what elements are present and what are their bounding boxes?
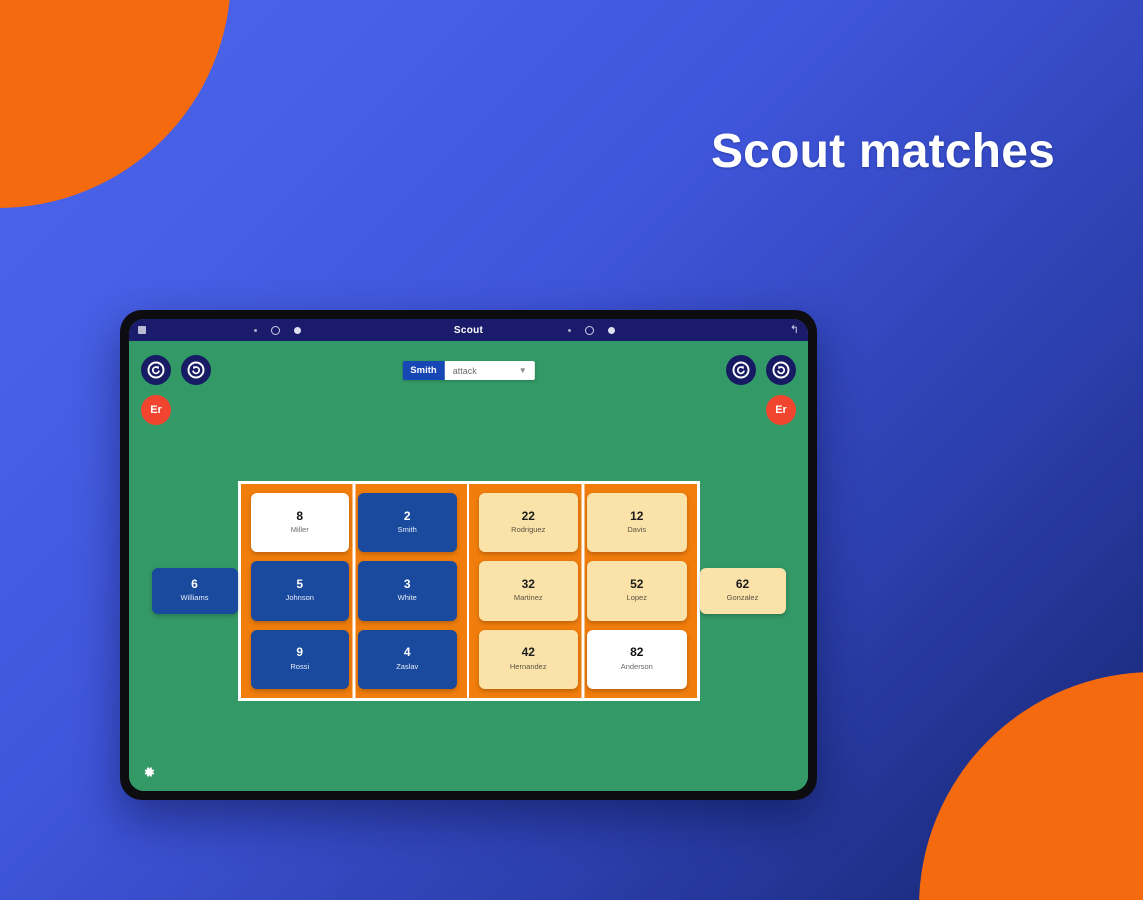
home-court-half: 8 Miller 2 Smith 5 Johnson 3 [241, 484, 469, 698]
player-card[interactable]: 8 Miller [251, 493, 350, 552]
undo-arrow-icon [732, 361, 750, 379]
player-name: Johnson [286, 593, 314, 604]
redo-arrow-icon [187, 361, 205, 379]
player-card[interactable]: 3 White [358, 561, 457, 620]
away-bench: 62 Gonzalez [700, 568, 786, 614]
chevron-down-icon: ▼ [519, 366, 527, 375]
home-undo-button[interactable] [141, 355, 171, 385]
window-titlebar: Scout ↰ [129, 319, 808, 341]
away-error-button[interactable]: Er [766, 395, 796, 425]
page-title: Scout matches [711, 124, 1055, 179]
player-name: Zaslav [396, 662, 418, 673]
player-name: Williams [181, 593, 209, 604]
player-number: 8 [296, 510, 303, 523]
player-number: 2 [404, 510, 411, 523]
player-number: 6 [191, 578, 198, 591]
back-arrow-icon[interactable]: ↰ [790, 325, 799, 336]
dot-icon-right [568, 329, 571, 332]
player-number: 62 [736, 578, 749, 591]
away-court-half: 22 Rodriguez 12 Davis 32 Martinez 52 [469, 484, 697, 698]
player-number: 52 [630, 578, 643, 591]
titlebar-left-icons [138, 326, 301, 335]
decorative-circle-bottom-right [919, 672, 1143, 900]
player-number: 4 [404, 646, 411, 659]
player-card[interactable]: 4 Zaslav [358, 630, 457, 689]
titlebar-right-icons: ↰ [568, 325, 799, 336]
player-name: Miller [291, 525, 309, 536]
player-card[interactable]: 9 Rossi [251, 630, 350, 689]
tablet-device-frame: Scout ↰ [120, 310, 817, 800]
scout-app-body: Er [129, 341, 808, 791]
player-number: 3 [404, 578, 411, 591]
home-error-button[interactable]: Er [141, 395, 171, 425]
player-card[interactable]: 2 Smith [358, 493, 457, 552]
player-name: Rossi [290, 662, 309, 673]
circle-icon [608, 327, 615, 334]
player-name: Anderson [621, 662, 653, 673]
player-number: 12 [630, 510, 643, 523]
action-dropdown[interactable]: attack ▼ [445, 361, 535, 380]
volleyball-court: 8 Miller 2 Smith 5 Johnson 3 [238, 481, 700, 701]
player-name: Hernandez [510, 662, 547, 673]
action-selector: Smith attack ▼ [402, 361, 534, 380]
player-card[interactable]: 22 Rodriguez [479, 493, 579, 552]
player-number: 22 [522, 510, 535, 523]
home-controls-cluster: Er [141, 355, 211, 425]
tablet-screen: Scout ↰ [129, 319, 808, 791]
player-card[interactable]: 52 Lopez [587, 561, 687, 620]
selected-player-badge[interactable]: Smith [402, 361, 444, 380]
diamond-icon [294, 327, 301, 334]
bench-player-card[interactable]: 6 Williams [152, 568, 238, 614]
player-name: Rodriguez [511, 525, 545, 536]
home-bench: 6 Williams [152, 568, 238, 614]
dot-icon [254, 329, 257, 332]
player-card[interactable]: 5 Johnson [251, 561, 350, 620]
player-number: 5 [296, 578, 303, 591]
player-name: White [398, 593, 417, 604]
redo-arrow-icon [772, 361, 790, 379]
player-name: Gonzalez [727, 593, 759, 604]
away-history-buttons [726, 355, 796, 385]
away-undo-button[interactable] [726, 355, 756, 385]
away-controls-cluster: Er [726, 355, 796, 425]
bench-player-card[interactable]: 62 Gonzalez [700, 568, 786, 614]
player-number: 82 [630, 646, 643, 659]
undo-arrow-icon [147, 361, 165, 379]
player-card[interactable]: 42 Hernandez [479, 630, 579, 689]
player-name: Davis [627, 525, 646, 536]
home-redo-button[interactable] [181, 355, 211, 385]
home-history-buttons [141, 355, 211, 385]
menu-square-icon[interactable] [138, 326, 146, 334]
player-card[interactable]: 82 Anderson [587, 630, 687, 689]
gear-icon-glyph [142, 765, 156, 779]
player-number: 9 [296, 646, 303, 659]
player-number: 42 [522, 646, 535, 659]
court-area: 6 Williams 8 Miller 2 Smith [129, 481, 808, 701]
decorative-circle-top-left [0, 0, 231, 208]
player-number: 32 [522, 578, 535, 591]
player-card[interactable]: 32 Martinez [479, 561, 579, 620]
ring-icon [271, 326, 280, 335]
away-redo-button[interactable] [766, 355, 796, 385]
player-card[interactable]: 12 Davis [587, 493, 687, 552]
player-name: Lopez [627, 593, 647, 604]
gear-icon[interactable] [142, 765, 156, 779]
player-name: Martinez [514, 593, 543, 604]
square-icon [585, 326, 594, 335]
player-name: Smith [398, 525, 417, 536]
action-dropdown-value: attack [453, 366, 477, 376]
